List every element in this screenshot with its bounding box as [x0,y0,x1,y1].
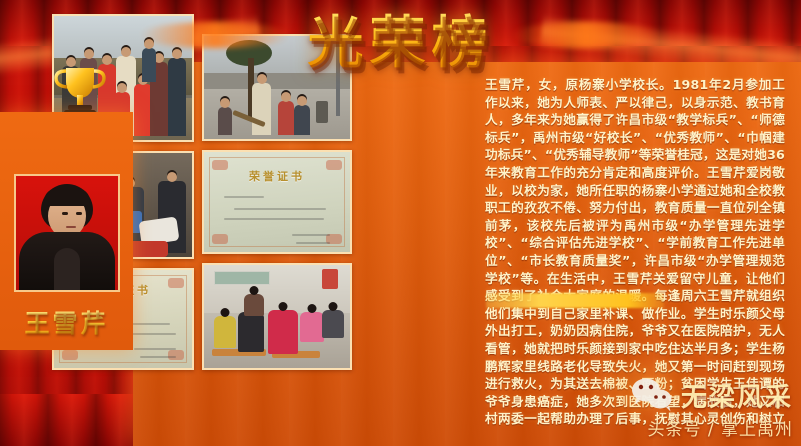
certificate-text-line [224,218,324,220]
person-head [167,172,177,182]
photo-student [214,316,236,348]
photo-student [300,312,324,342]
photo-person [278,101,294,135]
person-head [281,92,291,102]
person-head [308,304,317,313]
photo-person [294,105,310,135]
photo-red-blanket [128,241,168,257]
photo-wall-decor [322,269,338,289]
portrait-shirt [54,248,80,290]
certificate-text-line [224,196,264,198]
photo-person [218,107,232,135]
watermark-row: 无梁风采 [629,376,793,414]
certificate-text-line [234,208,326,210]
certificate-text-line [292,234,330,236]
banner-title-area: 光荣榜 [0,2,801,74]
photo-certificate-award: 荣誉证书 [202,150,352,255]
certificate-title: 荣誉证书 [204,168,350,184]
photo-blackboard [214,271,270,285]
honoree-biography: 王雪芹，女，原杨寨小学校长。1981年2月参加工作以来，她为人师表、严以律己，以… [485,76,785,426]
person-head [221,308,230,317]
honoree-name: 王雪芹 [0,304,133,340]
portrait-fringe [44,188,90,206]
page-title: 光荣榜 [308,0,494,79]
photo-student [322,310,344,338]
photo-student [244,294,264,316]
text-highlight-band [486,293,664,308]
person-head [250,286,259,295]
person-head [279,302,288,311]
watermark: 无梁风采 头条号 / 掌上禹州 [629,376,793,440]
portrait-eye-right [76,212,82,215]
portrait-mouth [66,226,76,228]
watermark-title: 无梁风采 [681,377,793,414]
person-head [329,302,338,311]
certificate-text-line [140,356,176,358]
certificate-ornament [212,234,228,244]
certificate-ornament [168,350,184,360]
person-head [297,96,307,106]
watermark-subtitle: 头条号 / 掌上禹州 [647,415,793,440]
photo-tutoring-class [202,263,352,370]
photo-student [268,310,298,354]
person-head [220,98,230,108]
photo-person [252,83,271,135]
portrait-panel: 王雪芹 [0,112,133,350]
wechat-icon [629,376,675,414]
title-flourish-right [511,22,661,48]
portrait-eye-left [62,212,68,215]
person-head [257,74,267,84]
title-flourish-left [140,22,290,48]
photo-student [238,312,264,352]
photo-trash-bin [316,101,328,123]
avatar [14,174,120,292]
certificate-text-line [296,242,330,244]
